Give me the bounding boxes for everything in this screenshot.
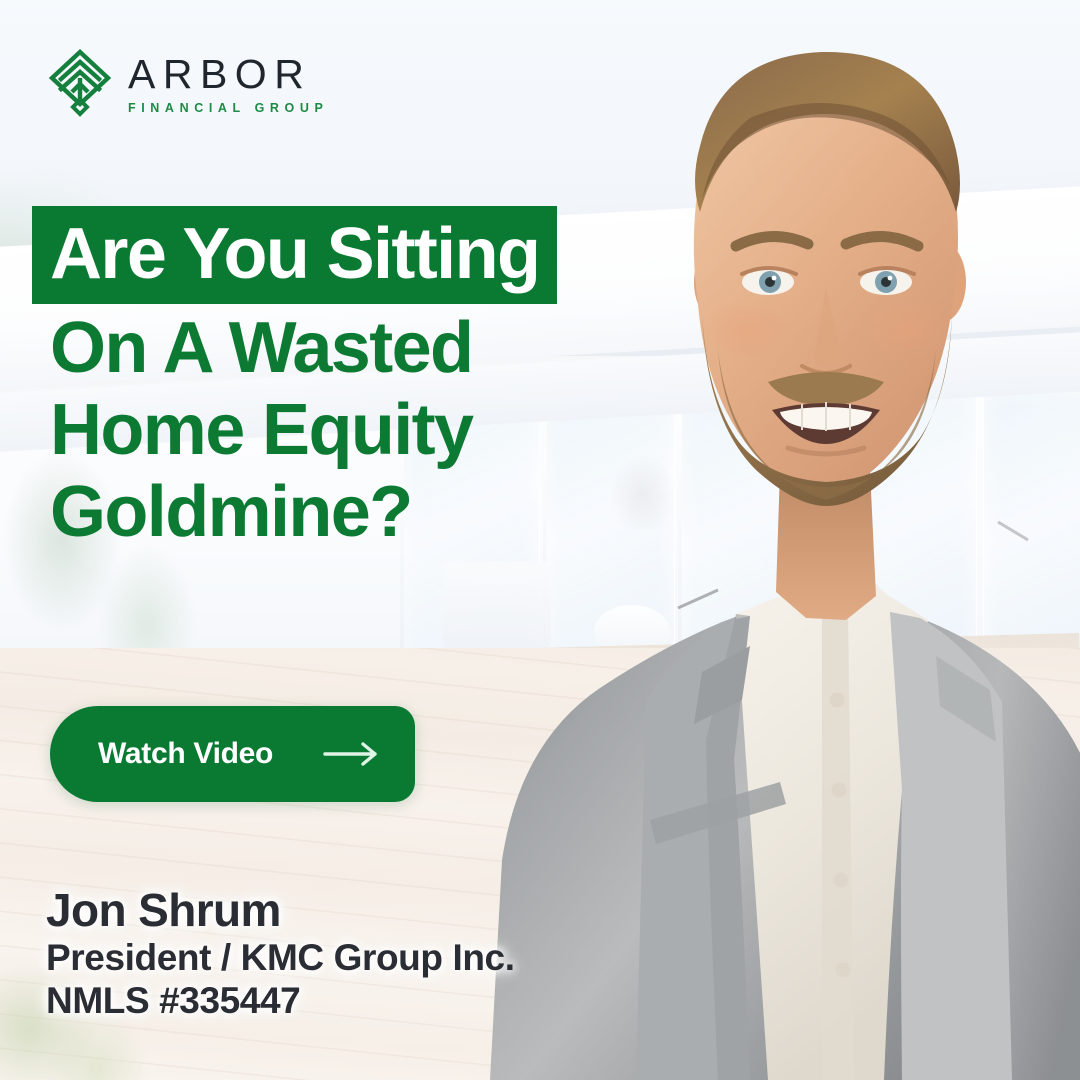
brand-wordmark: ARBOR FINANCIAL GROUP (128, 48, 328, 115)
presenter-name: Jon Shrum (46, 886, 515, 936)
headline-line-4: Goldmine? (32, 472, 557, 552)
brand-logo[interactable]: ARBOR FINANCIAL GROUP (48, 48, 328, 118)
watch-video-button[interactable]: Watch Video (50, 706, 415, 802)
ad-creative: ARBOR FINANCIAL GROUP Are You Sitting On… (0, 0, 1080, 1080)
headline-line-1: Are You Sitting (32, 206, 557, 304)
arbor-diamond-chevron-logo-icon (48, 48, 112, 118)
brand-tagline: FINANCIAL GROUP (128, 102, 328, 115)
headline: Are You Sitting On A Wasted Home Equity … (32, 206, 557, 554)
headline-line-2: On A Wasted (32, 308, 557, 388)
arrow-right-icon (323, 741, 381, 767)
watch-video-label: Watch Video (98, 737, 273, 771)
presenter-role: President / KMC Group Inc. (46, 937, 515, 979)
headline-line-3: Home Equity (32, 390, 557, 470)
presenter-license: NMLS #335447 (46, 980, 515, 1022)
brand-name: ARBOR (128, 54, 328, 95)
presenter-credentials: Jon Shrum President / KMC Group Inc. NML… (46, 886, 515, 1022)
